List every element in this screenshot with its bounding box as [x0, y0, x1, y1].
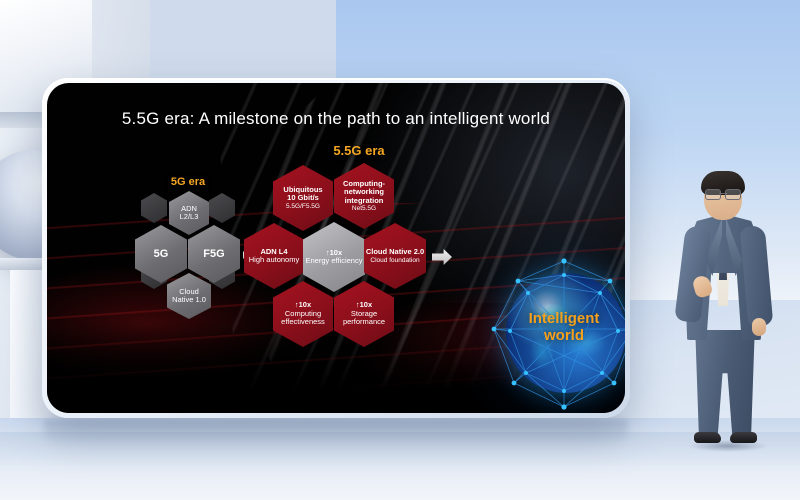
presenter-glasses-icon: [705, 189, 741, 198]
presenter-trousers: [694, 330, 756, 438]
intelligent-world-globe: Intelligent world: [484, 255, 625, 413]
hex-cn2-line2: Cloud foundation: [370, 257, 419, 264]
intelligent-world-line2: world: [484, 328, 625, 345]
hex-5g-label: 5G: [154, 248, 169, 260]
display-floor-reflection: [44, 420, 628, 446]
presentation-display[interactable]: 5.5G era: A milestone on the path to an …: [42, 78, 630, 418]
label-5g-era: 5G era: [143, 176, 233, 188]
hex-ubiquitous-line2: 10 Gbit/s: [287, 194, 319, 202]
presenter-hand-right: [752, 318, 766, 336]
hex-adn-l4-line2: High autonomy: [249, 256, 299, 264]
hex-f5g-label: F5G: [203, 248, 224, 260]
hex-energy-line2: Energy efficiency: [306, 257, 363, 265]
intelligent-world-label: Intelligent world: [484, 311, 625, 345]
hex-cni-line4: Net5.5G: [352, 205, 376, 212]
hex-cn2-line1: Cloud Native 2.0: [366, 248, 424, 256]
intelligent-world-line1: Intelligent: [484, 311, 625, 328]
presenter-shoe-right: [730, 432, 757, 443]
slide-screen: 5.5G era: A milestone on the path to an …: [47, 83, 625, 413]
screenshot-stage: 5.5G era: A milestone on the path to an …: [0, 0, 800, 500]
label-55g-era: 5.5G era: [294, 143, 424, 158]
hex-cloud-native-1-line2: Native 1.0: [172, 296, 206, 304]
hex-ce-line3: effectiveness: [281, 318, 325, 326]
presenter: [672, 168, 784, 452]
hex-sp-line3: performance: [343, 318, 385, 326]
presenter-shoe-left: [694, 432, 721, 443]
hex-ubiquitous-line3: 5.5G/F5.5G: [286, 203, 320, 210]
hex-cni-line3: integration: [345, 197, 384, 205]
hex-adn-l2-l3-line2: L2/L3: [180, 213, 199, 221]
slide-title: 5.5G era: A milestone on the path to an …: [47, 109, 625, 129]
